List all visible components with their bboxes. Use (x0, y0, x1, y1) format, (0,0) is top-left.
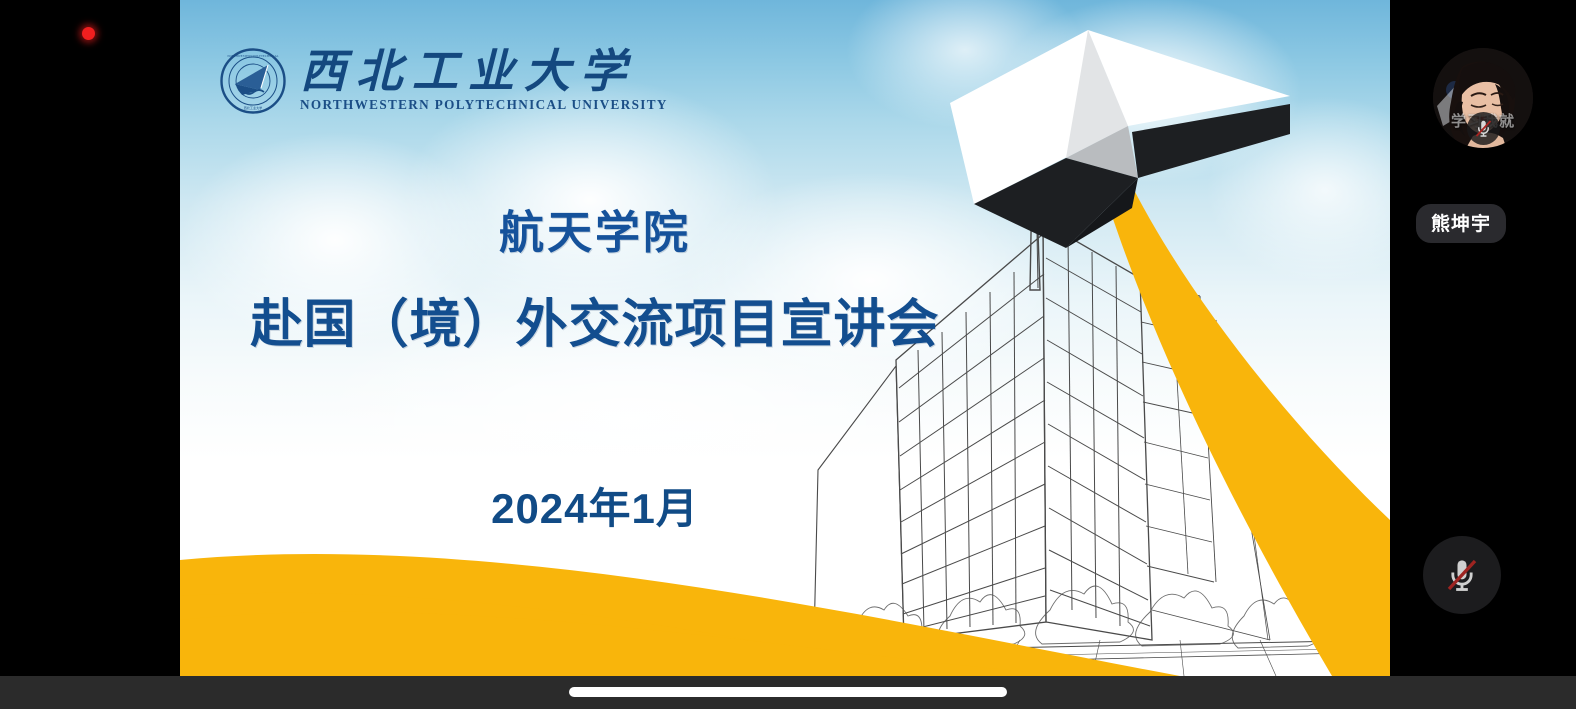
participant-tile[interactable]: 学习我就 熊坤宇 (1390, 0, 1576, 676)
microphone-muted-icon (1442, 555, 1482, 595)
svg-text:西北工业大学: 西北工业大学 (244, 105, 263, 110)
avatar[interactable]: 学习我就 (1433, 48, 1533, 148)
participant-name-label: 熊坤宇 (1416, 204, 1506, 243)
slide-title-line-2: 赴国（境）外交流项目宣讲会 (180, 294, 1010, 356)
slide-date: 2024年1月 (180, 475, 1010, 536)
shared-screen-stage[interactable]: NORTHWESTERN POLYTECHNICAL 西北工业大学 西北工业大学… (180, 0, 1390, 676)
slide-title-block: 航天学院 赴国（境）外交流项目宣讲会 (180, 205, 1010, 357)
presentation-slide: NORTHWESTERN POLYTECHNICAL 西北工业大学 西北工业大学… (180, 0, 1390, 676)
svg-text:NORTHWESTERN POLYTECHNICAL: NORTHWESTERN POLYTECHNICAL (227, 54, 278, 58)
bottom-bar (0, 676, 1576, 709)
slide-title-line-1: 航天学院 (180, 205, 1010, 261)
university-seal-icon: NORTHWESTERN POLYTECHNICAL 西北工业大学 (220, 48, 286, 114)
university-logo: NORTHWESTERN POLYTECHNICAL 西北工业大学 西北工业大学… (220, 48, 668, 114)
home-indicator[interactable] (569, 687, 1007, 697)
logo-name-cn: 西北工业大学 (300, 49, 636, 96)
video-call-screen: NORTHWESTERN POLYTECHNICAL 西北工业大学 西北工业大学… (0, 0, 1576, 709)
logo-name-en: NORTHWESTERN POLYTECHNICAL UNIVERSITY (300, 97, 668, 113)
mute-toggle-button[interactable] (1423, 536, 1501, 614)
recording-dot (82, 27, 95, 40)
microphone-muted-icon (1467, 112, 1500, 145)
